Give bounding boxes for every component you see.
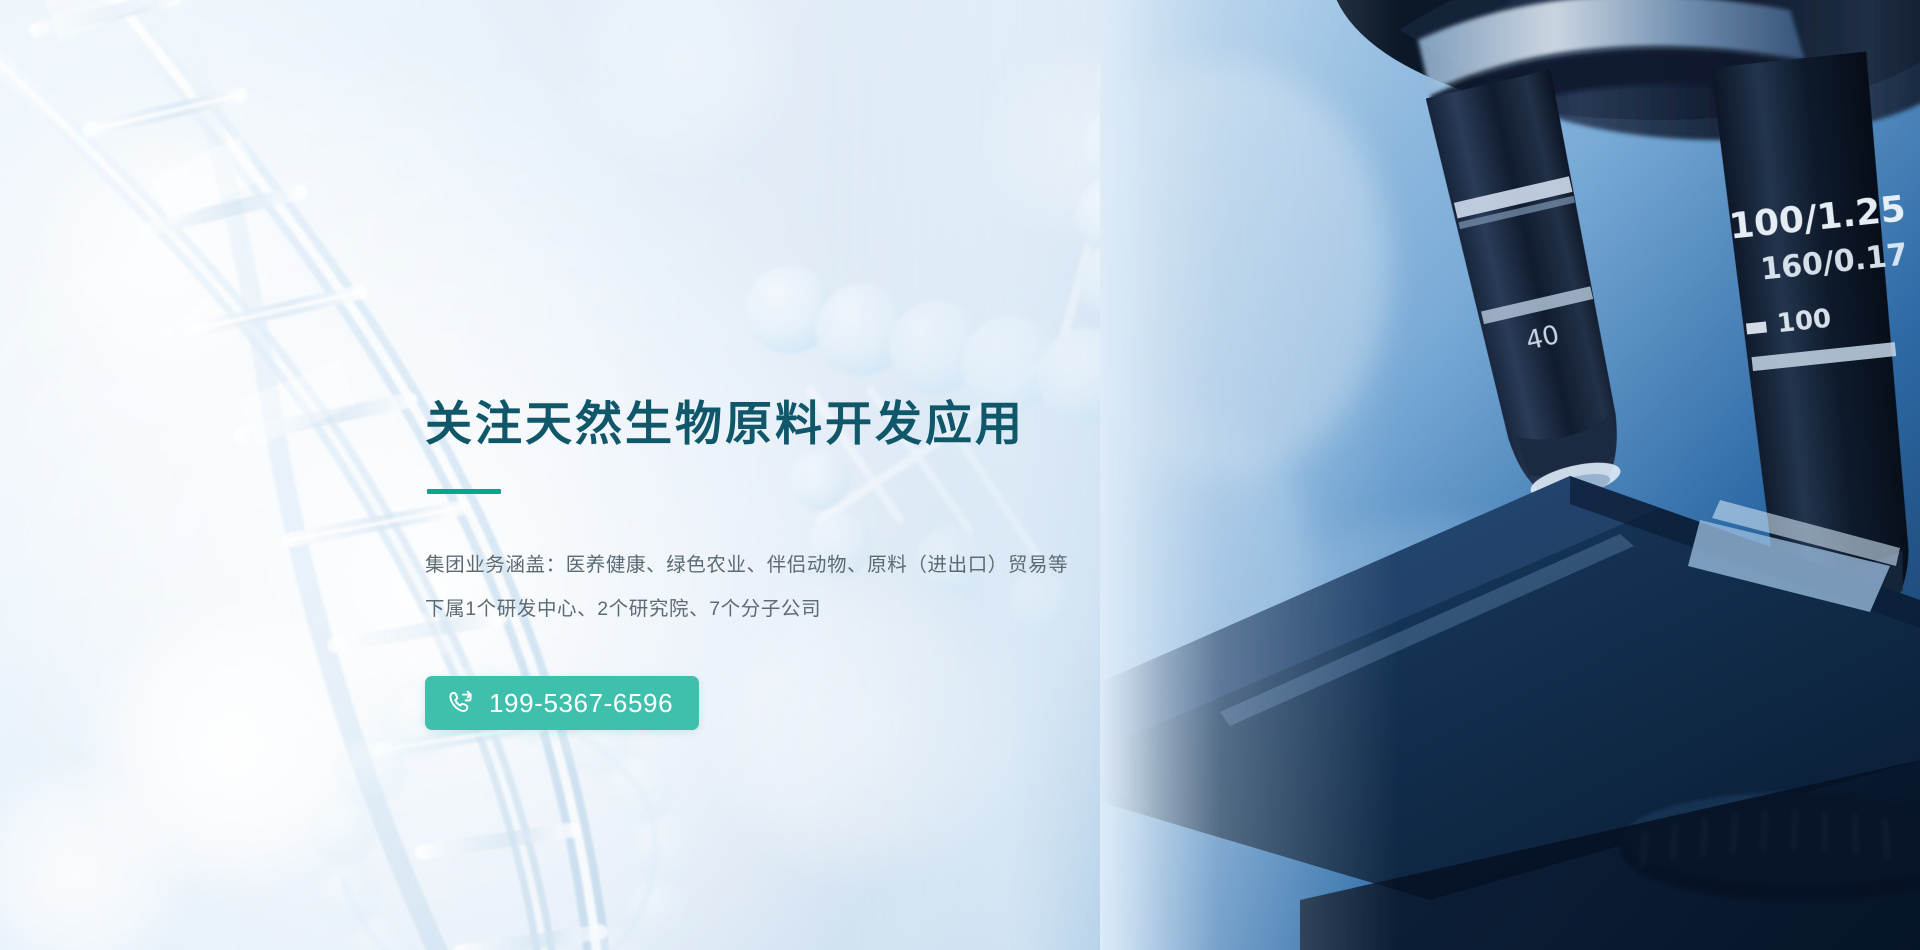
bokeh-light [80,600,380,900]
bokeh-light [30,120,290,380]
phone-number-label: 199-5367-6596 [489,690,673,716]
bokeh-light [0,760,190,950]
description-line-2: 下属1个研发中心、2个研究院、7个分子公司 [425,587,1245,631]
svg-text:100/1.25: 100/1.25 [1727,188,1907,247]
bokeh-light [980,40,1190,250]
hero-content: 关注天然生物原料开发应用 集团业务涵盖：医养健康、绿色农业、伴侣动物、原料（进出… [425,396,1245,730]
phone-cta-button[interactable]: 199-5367-6596 [425,676,699,730]
description-line-1: 集团业务涵盖：医养健康、绿色农业、伴侣动物、原料（进出口）贸易等 [425,543,1245,587]
svg-text:40: 40 [1523,320,1562,357]
hero-description: 集团业务涵盖：医养健康、绿色农业、伴侣动物、原料（进出口）贸易等 下属1个研发中… [425,543,1245,631]
svg-text:160/0.17: 160/0.17 [1759,237,1909,287]
svg-text:100: 100 [1776,304,1833,340]
page-title: 关注天然生物原料开发应用 [425,396,1245,451]
hero-banner: 40 100/1.25 160/0.17 100 [0,0,1920,950]
title-divider [427,489,501,494]
bokeh-light [560,0,800,180]
phone-forwarded-icon [447,689,475,717]
